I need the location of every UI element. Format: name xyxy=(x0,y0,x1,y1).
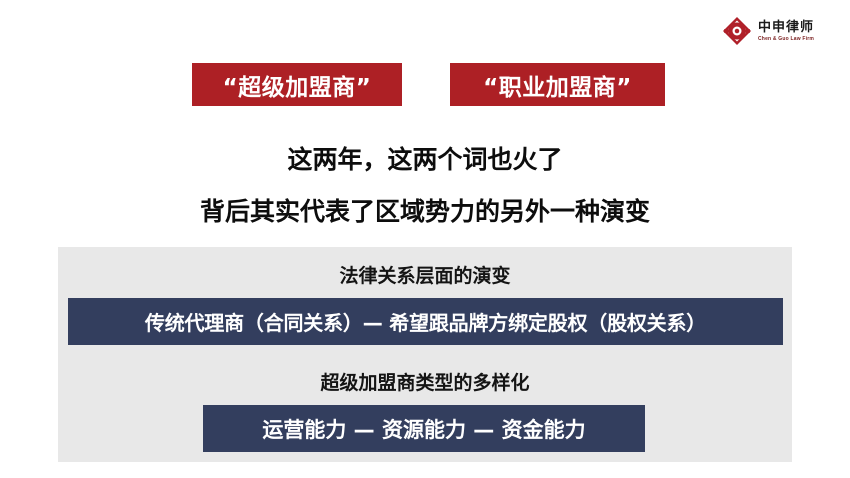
headline-line-2: 背后其实代表了区域势力的另外一种演变 xyxy=(0,192,850,228)
logo-text: 中申律师 Chen & Guo Law Firm xyxy=(758,21,814,42)
content-panel: 法律关系层面的演变 传统代理商（合同关系）— 希望跟品牌方绑定股权（股权关系） … xyxy=(58,247,792,462)
panel-bar-legal-relationship-evolution: 传统代理商（合同关系）— 希望跟品牌方绑定股权（股权关系） xyxy=(68,298,783,345)
headline-line-1: 这两年，这两个词也火了 xyxy=(0,140,850,176)
banner-super-franchisee: “超级加盟商” xyxy=(192,63,402,106)
brand-logo: 中申律师 Chen & Guo Law Firm xyxy=(722,14,840,48)
logo-english-name: Chen & Guo Law Firm xyxy=(758,37,814,42)
panel-heading-legal-relationship: 法律关系层面的演变 xyxy=(58,261,792,288)
panel-heading-franchisee-diversity: 超级加盟商类型的多样化 xyxy=(58,368,792,395)
banner-professional-franchisee: “职业加盟商” xyxy=(450,63,665,106)
chen-guo-diamond-logo-icon xyxy=(722,16,752,46)
logo-chinese-name: 中申律师 xyxy=(758,21,814,34)
panel-bar-capability-chain: 运营能力 — 资源能力 — 资金能力 xyxy=(203,405,645,452)
slide-canvas: 中申律师 Chen & Guo Law Firm “超级加盟商” “职业加盟商”… xyxy=(0,0,850,478)
